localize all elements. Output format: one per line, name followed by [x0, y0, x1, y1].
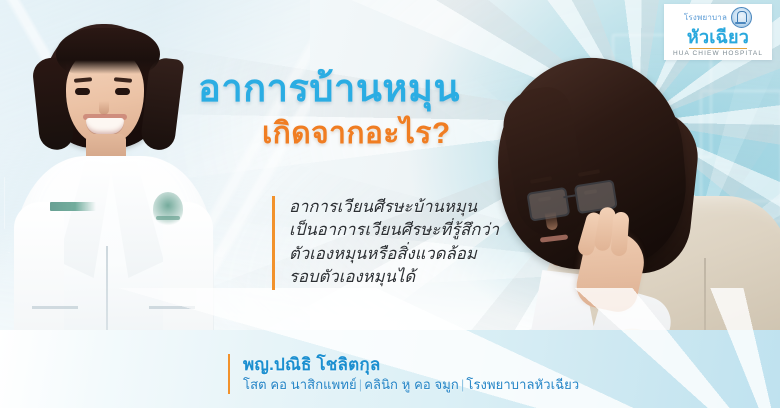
description-line: รอบตัวเองหมุนได้: [289, 266, 499, 289]
page-title: อาการบ้านหมุน: [198, 70, 528, 109]
doctor-eye-right: [115, 88, 130, 95]
doctor-name: พญ.ปณิธิ โชลิตกุล: [243, 354, 579, 375]
health-awareness-banner: โรงพยาบาล หัวเฉียว HUA CHIEW HOSPITAL อา…: [0, 0, 780, 408]
description-line: อาการเวียนศีรษะบ้านหมุน: [289, 196, 499, 219]
logo-divider: [689, 48, 747, 49]
description-line: เป็นอาการเวียนศีรษะที่รู้สึกว่า: [289, 219, 499, 242]
hospital-crest-icon: [731, 7, 752, 28]
logo-thai-large: หัวเฉียว: [687, 28, 749, 47]
patient-finger-3: [610, 211, 629, 256]
logo-top-row: โรงพยาบาล: [684, 7, 752, 28]
patient-glasses-bridge: [563, 194, 575, 198]
description-line: ตัวเองหมุนหรือสิ่งแวดล้อม: [289, 243, 499, 266]
doctor-name-embroidery: [50, 202, 96, 211]
doctor-credentials: โสต คอ นาสิกแพทย์|คลินิก หู คอ จมูก|โรงพ…: [243, 376, 579, 394]
hospital-coat-emblem-icon: [153, 192, 183, 226]
doctor-fringe: [56, 28, 160, 74]
logo-thai-small: โรงพยาบาล: [684, 11, 727, 24]
doctor-nose: [99, 101, 109, 115]
page-subtitle: เกิดจากอะไร?: [262, 118, 592, 150]
logo-english-name: HUA CHIEW HOSPITAL: [673, 50, 763, 57]
doctor-hospital: โรงพยาบาลหัวเฉียว: [466, 377, 579, 392]
doctor-credit: พญ.ปณิธิ โชลิตกุล โสต คอ นาสิกแพทย์|คลิน…: [228, 354, 579, 394]
doctor-clinic: คลินิก หู คอ จมูก: [364, 377, 459, 392]
doctor-smile: [86, 118, 124, 134]
hospital-logo: โรงพยาบาล หัวเฉียว HUA CHIEW HOSPITAL: [664, 4, 772, 60]
description-block: อาการเวียนศีรษะบ้านหมุน เป็นอาการเวียนศี…: [272, 196, 499, 290]
doctor-eye-left: [75, 88, 90, 95]
doctor-specialty: โสต คอ นาสิกแพทย์: [243, 377, 357, 392]
